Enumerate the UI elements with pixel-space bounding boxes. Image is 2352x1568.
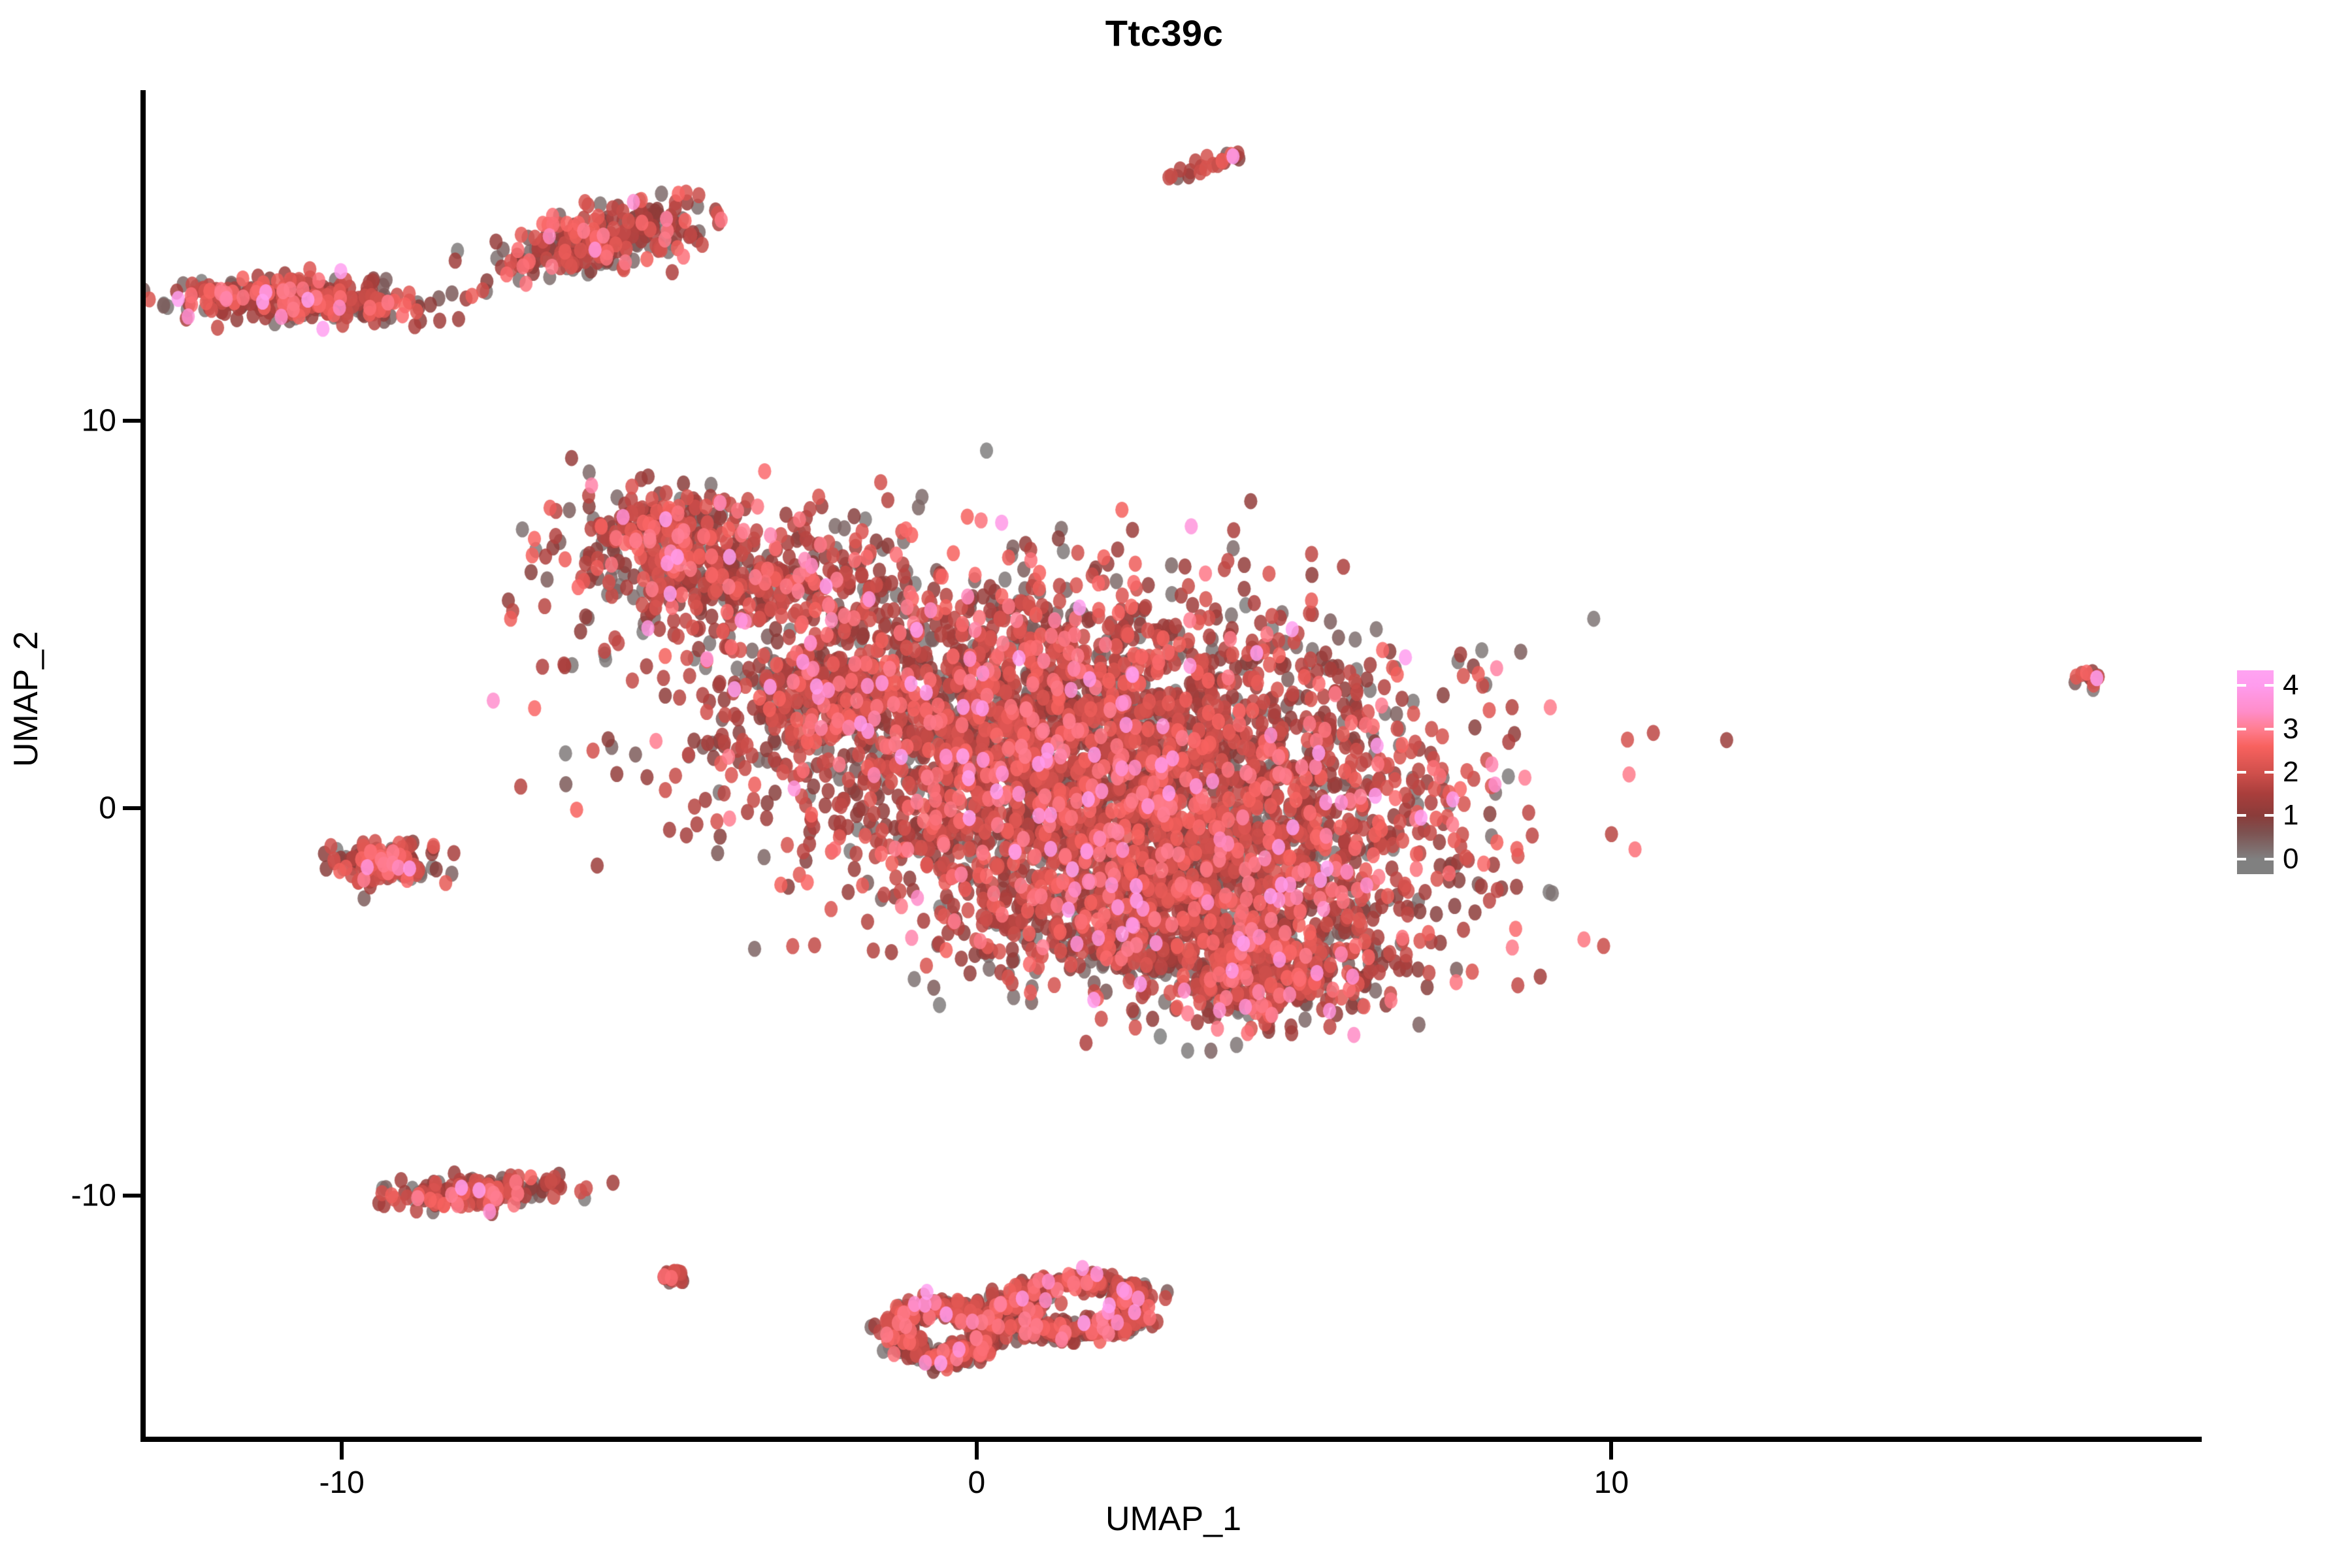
x-tick-label: 0 <box>968 1465 985 1501</box>
legend-tick-mark <box>2264 728 2274 730</box>
legend-tick-mark <box>2237 684 2246 687</box>
legend-tick-mark <box>2264 814 2274 817</box>
x-axis-title: UMAP_1 <box>145 1499 2202 1539</box>
legend-tick-label: 2 <box>2283 756 2298 789</box>
legend-tick-mark <box>2264 684 2274 687</box>
legend-tick-mark <box>2237 728 2246 730</box>
legend-tick-label: 1 <box>2283 799 2298 832</box>
y-axis-title: UMAP_2 <box>7 438 46 960</box>
plot-panel <box>145 91 2202 1439</box>
scatter-points-canvas <box>145 91 2202 1439</box>
y-tick-mark <box>123 1194 141 1198</box>
legend-tick-mark <box>2264 858 2274 860</box>
y-axis-line <box>140 90 146 1441</box>
legend-tick-label: 0 <box>2283 843 2298 875</box>
x-tick-label: 10 <box>1594 1465 1629 1501</box>
x-axis-line <box>140 1437 2202 1442</box>
y-tick-mark <box>123 806 141 810</box>
x-tick-mark <box>1609 1441 1613 1460</box>
x-tick-mark <box>975 1441 979 1460</box>
color-legend: 43210 <box>2237 670 2342 879</box>
legend-tick-mark <box>2237 858 2246 860</box>
y-tick-label: -10 <box>0 1177 116 1213</box>
y-tick-mark <box>123 419 141 423</box>
x-tick-label: -10 <box>319 1465 365 1501</box>
legend-tick-mark <box>2264 771 2274 774</box>
umap-feature-plot: Ttc39c 100-10 -10010 UMAP_1 UMAP_2 43210 <box>0 0 2352 1568</box>
legend-tick-mark <box>2237 814 2246 817</box>
page-title: Ttc39c <box>0 12 2340 54</box>
y-tick-label: 10 <box>0 402 116 438</box>
legend-tick-label: 3 <box>2283 713 2298 745</box>
x-tick-mark <box>340 1441 344 1460</box>
legend-tick-label: 4 <box>2283 669 2298 702</box>
legend-tick-mark <box>2237 771 2246 774</box>
